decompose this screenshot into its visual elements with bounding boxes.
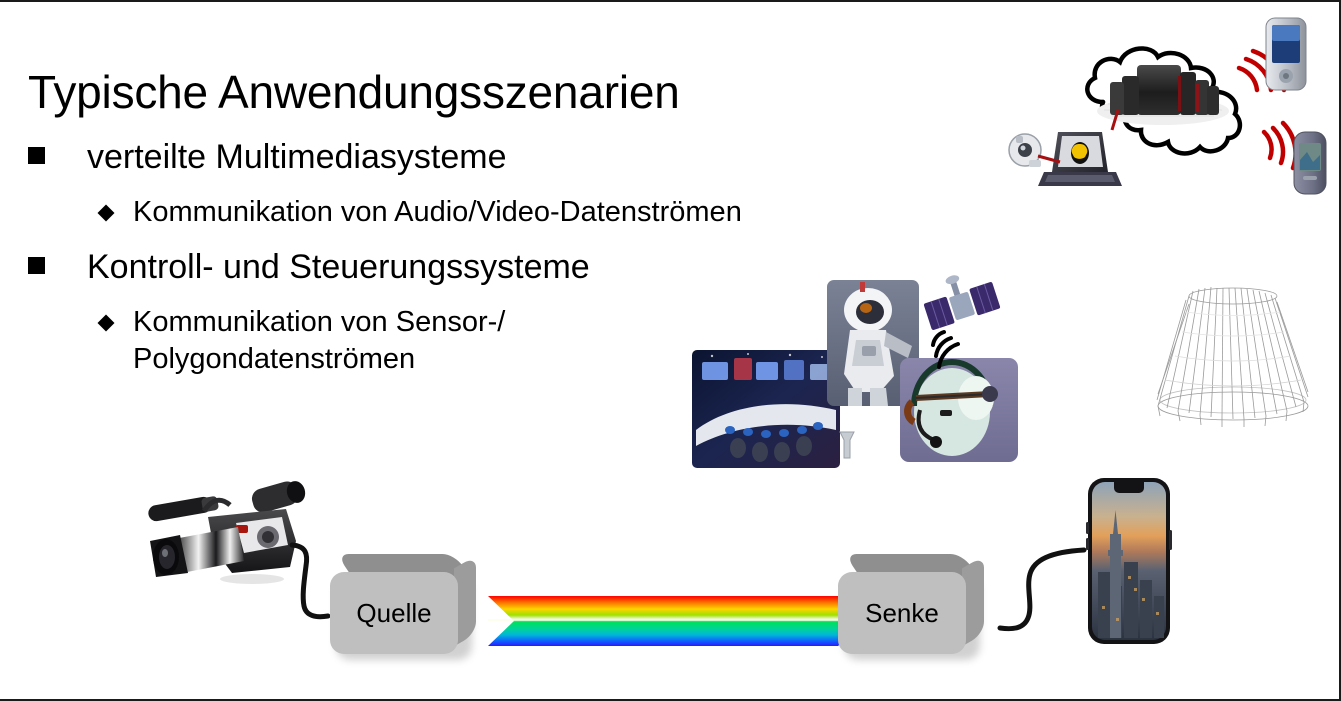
bullet-item-2: Kommunikation von Audio/Video-Datenström… bbox=[100, 194, 742, 231]
viewfinder-part bbox=[250, 479, 308, 515]
page-title: Typische Anwendungsszenarien bbox=[28, 66, 680, 118]
wireless-waves-icon bbox=[1264, 123, 1296, 168]
source-node[interactable]: Quelle bbox=[330, 554, 476, 660]
power-button bbox=[1169, 530, 1172, 550]
bullet-item-4-label-line2: Polygondatenströmen bbox=[133, 341, 505, 378]
control-systems-collage bbox=[690, 270, 1025, 475]
bullet-item-1-label: verteilte Multimediasysteme bbox=[87, 137, 506, 177]
pda-device-icon bbox=[1266, 18, 1306, 90]
volume-button bbox=[1086, 538, 1089, 550]
bullet-item-3-label: Kontroll- und Steuerungssysteme bbox=[87, 247, 590, 287]
sink-node-label: Senke bbox=[838, 572, 966, 654]
sink-node[interactable]: Senke bbox=[838, 554, 984, 660]
cable-right bbox=[980, 530, 1090, 640]
satellite-icon bbox=[918, 270, 1001, 330]
bullet-item-4-label: Kommunikation von Sensor-/ bbox=[133, 304, 505, 341]
diamond-bullet-icon bbox=[98, 205, 115, 222]
square-bullet-icon bbox=[28, 147, 45, 164]
network-cloud-illustration bbox=[1000, 10, 1341, 215]
presentation-slide: Typische Anwendungsszenarien verteilte M… bbox=[0, 0, 1341, 701]
mission-control-room-photo bbox=[692, 350, 840, 468]
source-node-label: Quelle bbox=[330, 572, 458, 654]
bullet-item-3: Kontroll- und Steuerungssysteme bbox=[28, 247, 590, 287]
bullet-item-1: verteilte Multimediasysteme bbox=[28, 137, 506, 177]
webcam-icon bbox=[1009, 134, 1041, 167]
polygon-wireframe-cone bbox=[1153, 280, 1313, 430]
bullet-item-2-label: Kommunikation von Audio/Video-Datenström… bbox=[133, 194, 742, 231]
headset-operator-photo bbox=[900, 358, 1018, 462]
smartphone-icon bbox=[1084, 476, 1174, 646]
square-bullet-icon bbox=[28, 257, 45, 274]
data-stream-arrow bbox=[466, 590, 886, 652]
antenna-icon bbox=[840, 432, 854, 458]
bullet-item-4: Kommunikation von Sensor-/ Polygondatens… bbox=[100, 304, 505, 378]
volume-button bbox=[1086, 522, 1089, 534]
mobile-phone-icon bbox=[1294, 132, 1326, 194]
diamond-bullet-icon bbox=[98, 315, 115, 332]
